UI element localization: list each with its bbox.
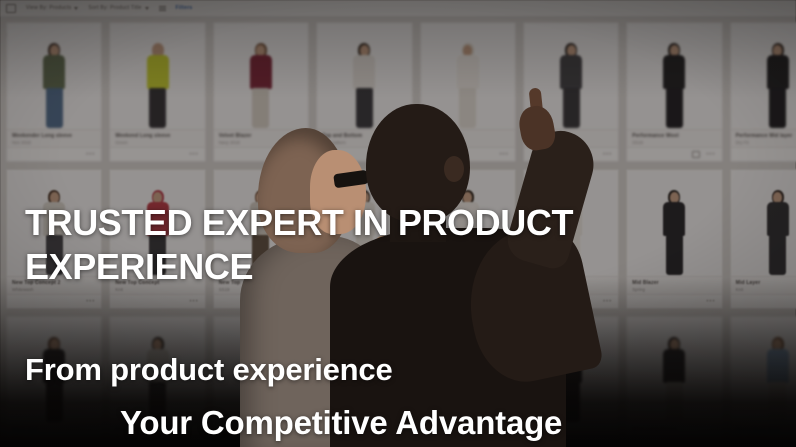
hero-subhead-line1: From product experience (25, 352, 393, 388)
hero-headline-line2: EXPERIENCE (25, 247, 253, 287)
hero-copy: TRUSTED EXPERT IN PRODUCT EXPERIENCE Fro… (0, 0, 796, 447)
hero-headline-line1: TRUSTED EXPERT IN PRODUCT (25, 203, 573, 243)
hero-banner: View By: Products Sort By: Product Title… (0, 0, 796, 447)
hero-subhead-line2: Your Competitive Advantage (120, 404, 562, 442)
